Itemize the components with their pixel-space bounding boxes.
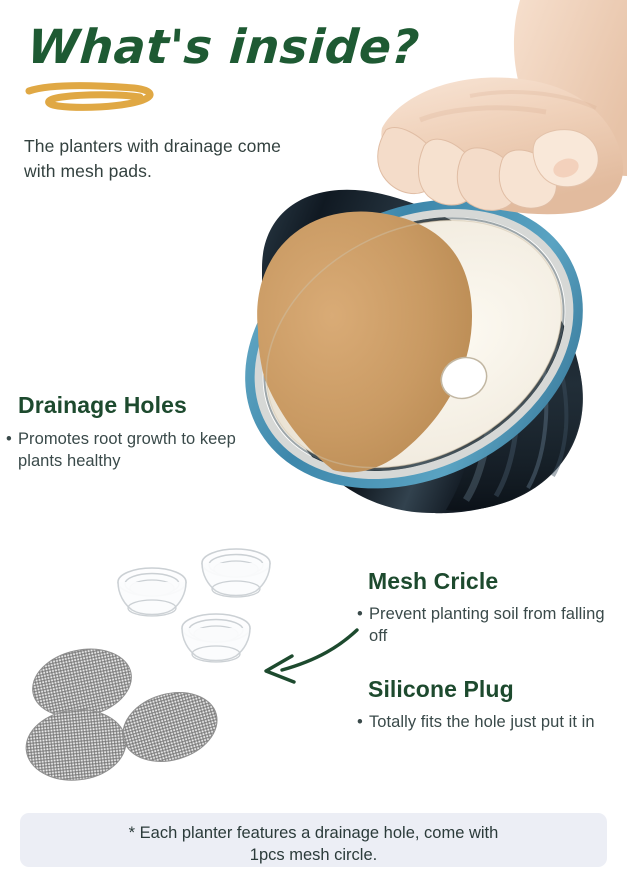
section-body-silicone-plug: • Totally fits the hole just put it in xyxy=(357,711,613,733)
thumbnail xyxy=(551,155,581,180)
planter-teal-rim xyxy=(202,150,626,538)
drainage-hole xyxy=(435,351,493,405)
planter-wall-shading xyxy=(446,228,583,511)
planter-wall xyxy=(446,228,583,511)
section-body-drainage-holes: • Promotes root growth to keep plants he… xyxy=(6,428,238,473)
fingers xyxy=(378,128,599,211)
section-heading-silicone-plug: Silicone Plug xyxy=(368,676,514,703)
planter-rim-edge xyxy=(221,168,608,519)
footer-note-line-1: * Each planter features a drainage hole,… xyxy=(20,822,607,844)
section-heading-drainage-holes: Drainage Holes xyxy=(18,392,187,419)
mesh-circle xyxy=(23,705,130,785)
page-title: What's inside? xyxy=(26,24,369,71)
planter-interior-outline xyxy=(223,171,605,517)
thumb xyxy=(533,130,598,187)
bullet-icon: • xyxy=(6,428,12,450)
footer-note-line-2: 1pcs mesh circle. xyxy=(20,844,607,866)
page-subtitle: The planters with drainage come with mes… xyxy=(24,134,294,184)
section-heading-mesh-circle: Mesh Cricle xyxy=(368,568,498,595)
infographic-page: What's inside? The planters with drainag… xyxy=(0,0,627,879)
hand-shading xyxy=(420,92,596,120)
planter-body xyxy=(262,190,582,513)
bullet-icon: • xyxy=(357,603,363,625)
section-body-mesh-circle: • Prevent planting soil from falling off xyxy=(357,603,607,648)
bullet-icon: • xyxy=(357,711,363,733)
planter-interior xyxy=(223,171,605,517)
hand-back xyxy=(381,78,623,215)
planter-interior-shadow xyxy=(257,212,472,473)
mesh-circle xyxy=(26,640,138,725)
silicone-plug xyxy=(182,614,250,662)
section-body-text: Promotes root growth to keep plants heal… xyxy=(6,428,238,473)
silicone-plug xyxy=(202,549,270,597)
silicone-plug xyxy=(118,568,186,616)
drainage-hole-rim xyxy=(435,351,493,405)
mesh-circles-photo xyxy=(23,640,226,785)
forearm xyxy=(514,0,627,176)
title-swoosh-underline xyxy=(28,82,158,116)
section-body-text: Totally fits the hole just put it in xyxy=(357,711,613,733)
curved-arrow-icon xyxy=(266,630,357,682)
page-title-block: What's inside? xyxy=(26,24,366,129)
planter-rim-lip xyxy=(213,161,615,527)
planter-photo xyxy=(202,150,626,538)
mesh-circle xyxy=(115,682,225,772)
footer-note-box: * Each planter features a drainage hole,… xyxy=(20,813,607,867)
planter-interior-shadow-group xyxy=(257,212,472,473)
footer-note-text: * Each planter features a drainage hole,… xyxy=(20,822,607,867)
planter-gloss-streaks xyxy=(466,250,566,500)
section-body-text: Prevent planting soil from falling off xyxy=(357,603,607,648)
silicone-plugs-photo xyxy=(118,549,270,662)
